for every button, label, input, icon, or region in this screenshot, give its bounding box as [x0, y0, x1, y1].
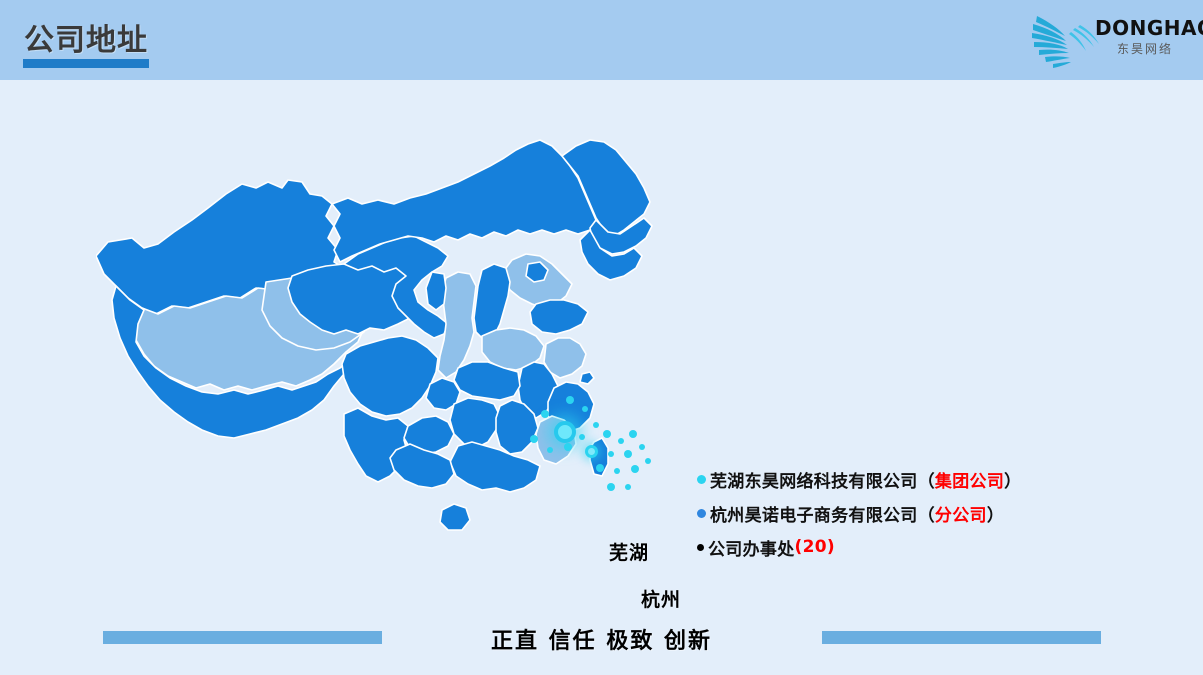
- marker-branch-hangzhou[interactable]: [585, 445, 598, 458]
- marker-office[interactable]: [582, 406, 588, 412]
- marker-office[interactable]: [596, 464, 604, 472]
- legend-bullet-cyan-icon: [697, 475, 706, 484]
- legend-paren-open: （: [918, 467, 935, 492]
- marker-office[interactable]: [607, 483, 615, 491]
- marker-office[interactable]: [618, 438, 624, 444]
- marker-office[interactable]: [625, 484, 631, 490]
- province-guangxi: [390, 444, 454, 488]
- legend-item-offices: 公司办事处 (20): [697, 530, 1097, 564]
- marker-office[interactable]: [639, 444, 645, 450]
- marker-office[interactable]: [631, 465, 639, 473]
- marker-office[interactable]: [614, 468, 620, 474]
- map-label-hangzhou: 杭州: [641, 585, 681, 612]
- page-header: 公司地址 DONGHAO 东昊网络: [0, 0, 1203, 80]
- marker-office[interactable]: [579, 434, 585, 440]
- page-title: 公司地址: [24, 15, 148, 59]
- marker-headquarters-wuhu[interactable]: [554, 421, 576, 443]
- marker-office[interactable]: [547, 447, 553, 453]
- logo-subtitle: 东昊网络: [1095, 43, 1195, 55]
- province-shanghai: [580, 372, 594, 384]
- legend-label: 杭州昊诺电子商务有限公司: [710, 501, 918, 526]
- logo-name: DONGHAO: [1095, 18, 1195, 38]
- marker-office[interactable]: [564, 443, 572, 451]
- china-map-container: 芜湖 杭州: [96, 138, 671, 608]
- legend-tag: 分公司: [935, 501, 987, 526]
- marker-office[interactable]: [629, 430, 637, 438]
- fan-wing-logo-icon: [1023, 10, 1099, 72]
- province-ningxia: [426, 272, 446, 310]
- legend-paren-open: （: [918, 501, 935, 526]
- legend-paren-close: ）: [987, 501, 1004, 526]
- legend-list: 芜湖东昊网络科技有限公司 （ 集团公司 ） 杭州昊诺电子商务有限公司 （ 分公司…: [697, 462, 1097, 564]
- legend-label: 芜湖东昊网络科技有限公司: [710, 467, 918, 492]
- legend-bullet-black-icon: [697, 544, 704, 551]
- legend-tag: (20): [795, 537, 835, 557]
- province-hainan: [440, 504, 470, 530]
- map-label-wuhu: 芜湖: [609, 538, 649, 565]
- marker-office[interactable]: [593, 422, 599, 428]
- legend-label: 公司办事处: [708, 535, 795, 560]
- title-underline-accent: [23, 59, 149, 68]
- legend-paren-close: ）: [1004, 467, 1021, 492]
- province-hunan: [450, 398, 500, 448]
- marker-office[interactable]: [624, 450, 632, 458]
- marker-office[interactable]: [603, 430, 611, 438]
- company-logo: DONGHAO 东昊网络: [1023, 10, 1193, 72]
- legend-item-group-company: 芜湖东昊网络科技有限公司 （ 集团公司 ）: [697, 462, 1097, 496]
- marker-office[interactable]: [541, 410, 549, 418]
- footer-bar-right: [822, 631, 1101, 644]
- province-sichuan: [342, 336, 438, 416]
- marker-office[interactable]: [608, 451, 614, 457]
- legend-tag: 集团公司: [935, 467, 1004, 492]
- marker-office[interactable]: [530, 435, 538, 443]
- legend-item-branch-company: 杭州昊诺电子商务有限公司 （ 分公司 ）: [697, 496, 1097, 530]
- province-shandong: [530, 300, 588, 334]
- china-map-svg: [96, 138, 671, 608]
- legend-bullet-blue-icon: [697, 509, 706, 518]
- logo-text-block: DONGHAO 东昊网络: [1095, 18, 1195, 55]
- province-guangdong: [450, 442, 540, 492]
- marker-office[interactable]: [645, 458, 651, 464]
- marker-office[interactable]: [566, 396, 574, 404]
- province-inner-mongolia: [332, 140, 596, 262]
